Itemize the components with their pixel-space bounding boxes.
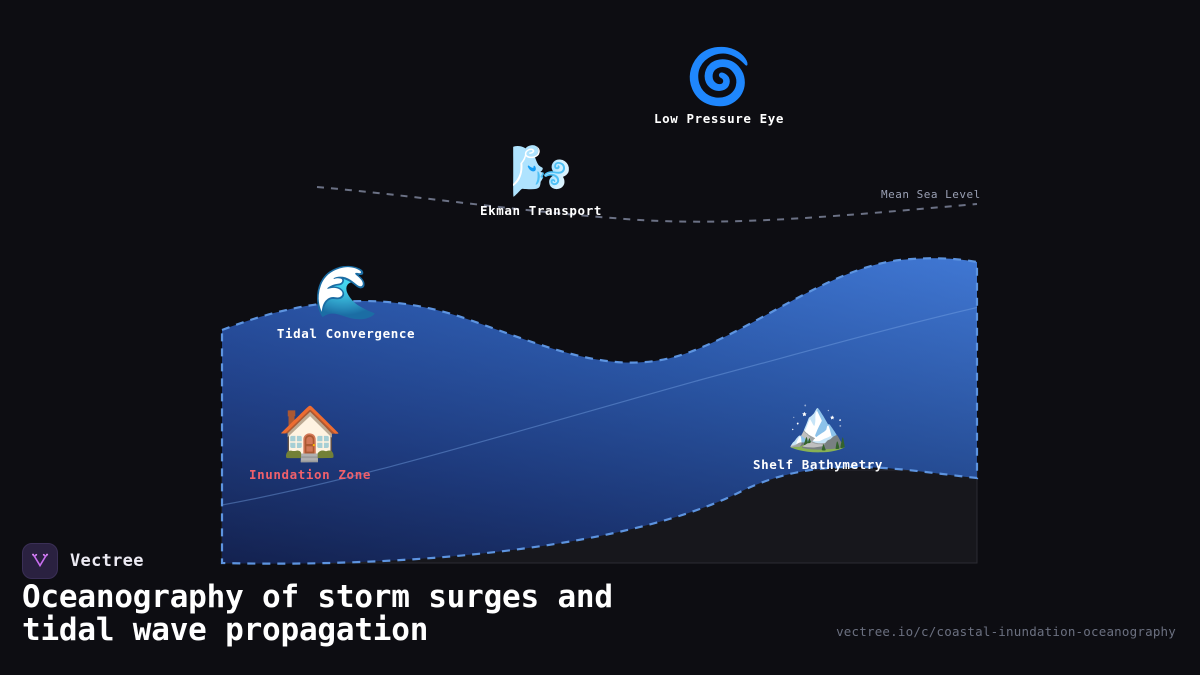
brand-name: Vectree — [70, 551, 144, 571]
node-inundation-zone[interactable]: 🏠 Inundation Zone — [249, 408, 371, 482]
page-title: Oceanography of storm surges and tidal w… — [22, 581, 782, 647]
mean-sea-level-label: Mean Sea Level — [881, 188, 981, 201]
node-low-pressure-eye[interactable]: 🌀 Low Pressure Eye — [654, 50, 784, 126]
node-label-ekman-transport: Ekman Transport — [480, 203, 602, 218]
wind-face-icon: 🌬️ — [510, 146, 572, 196]
node-label-low-pressure-eye: Low Pressure Eye — [654, 111, 784, 126]
brand[interactable]: Vectree — [22, 543, 144, 579]
snow-capped-mountain-icon: 🏔️ — [787, 400, 849, 450]
house-icon: 🏠 — [278, 408, 343, 460]
node-tidal-convergence[interactable]: 🌊 Tidal Convergence — [277, 267, 415, 341]
diagram-svg — [0, 0, 1200, 580]
oceanography-diagram: Mean Sea Level 🌀 Low Pressure Eye 🌬️ Ekm… — [0, 0, 1200, 580]
cyclone-icon: 🌀 — [685, 50, 752, 104]
node-shelf-bathymetry[interactable]: 🏔️ Shelf Bathymetry — [753, 400, 883, 472]
node-ekman-transport[interactable]: 🌬️ Ekman Transport — [480, 146, 602, 218]
mean-sea-level-line — [317, 187, 977, 222]
node-label-inundation-zone: Inundation Zone — [249, 467, 371, 482]
slide-canvas: Mean Sea Level 🌀 Low Pressure Eye 🌬️ Ekm… — [0, 0, 1200, 675]
node-label-tidal-convergence: Tidal Convergence — [277, 326, 415, 341]
node-label-shelf-bathymetry: Shelf Bathymetry — [753, 457, 883, 472]
vectree-logo-icon — [22, 543, 58, 579]
ocean-wave-icon: 🌊 — [314, 267, 379, 319]
page-url: vectree.io/c/coastal-inundation-oceanogr… — [836, 624, 1176, 639]
footer: Vectree Oceanography of storm surges and… — [0, 536, 1200, 675]
